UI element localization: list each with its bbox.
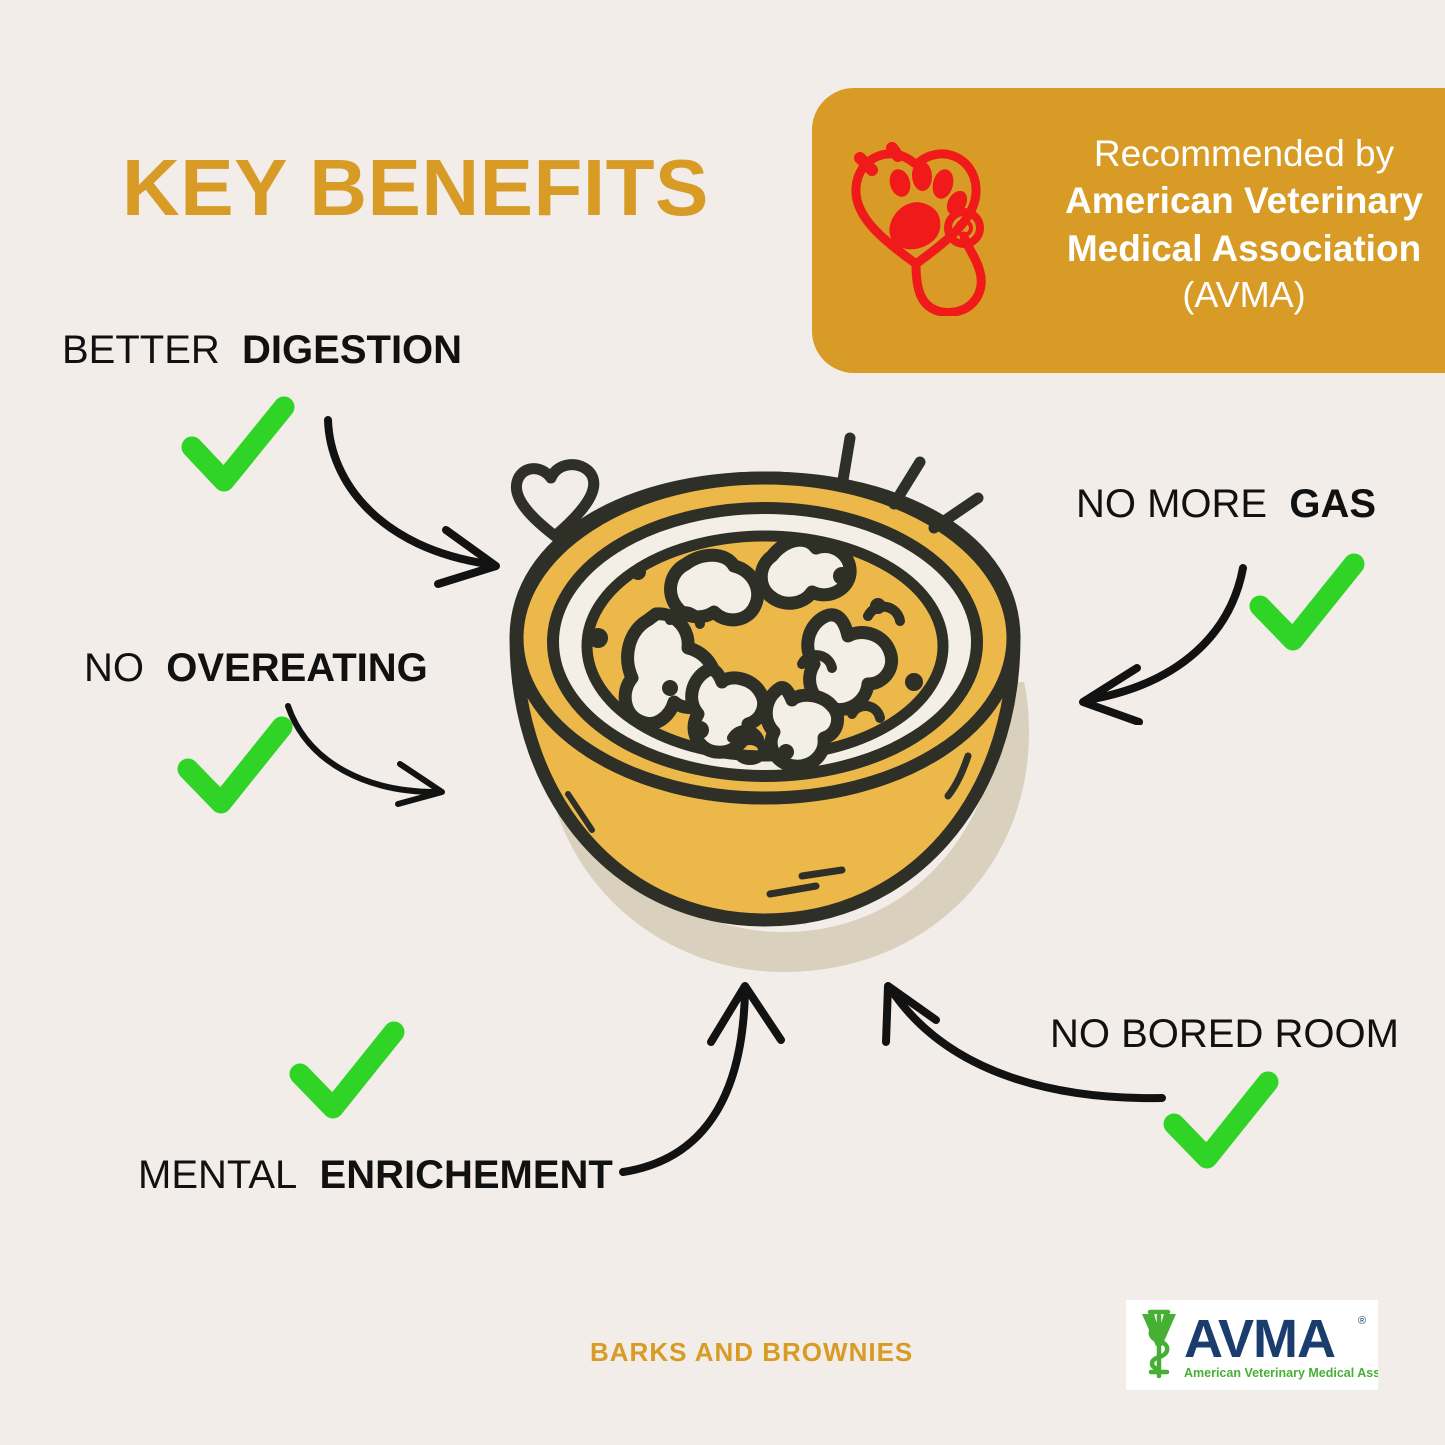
benefit-emphasis-overeating: OVEREATING	[166, 646, 428, 690]
brand-name: BARKS AND BROWNIES	[590, 1337, 913, 1368]
stethoscope-heart-paw-icon	[842, 136, 1032, 316]
infographic-canvas: KEY BENEFITS	[0, 0, 1445, 1445]
curved-arrow-down-left-icon	[1075, 560, 1255, 725]
badge-line-org-2: Medical Association	[1044, 225, 1444, 272]
check-icon	[180, 395, 295, 495]
sparkle-lines-icon	[828, 428, 998, 548]
benefit-label-gas: NO MORE GAS	[1076, 484, 1376, 524]
check-icon	[288, 1020, 406, 1122]
benefit-emphasis-digestion: DIGESTION	[242, 328, 462, 372]
avma-recommendation-badge: Recommended by American Veterinary Medic…	[812, 88, 1445, 373]
avma-trademark: ®	[1358, 1315, 1366, 1327]
avma-tagline: American Veterinary Medical Association	[1184, 1366, 1378, 1380]
benefit-label-enrichement: MENTAL ENRICHEMENT	[138, 1155, 613, 1195]
badge-line-recommended: Recommended by	[1044, 130, 1444, 177]
curved-arrow-up-right-icon	[615, 980, 805, 1180]
benefit-emphasis-enrichement: ENRICHEMENT	[320, 1153, 613, 1197]
avma-logo: AVMA ® American Veterinary Medical Assoc…	[1126, 1300, 1378, 1390]
check-icon	[1162, 1070, 1280, 1172]
benefit-prefix-digestion: BETTER	[62, 328, 231, 372]
benefit-label-digestion: BETTER DIGESTION	[62, 330, 462, 370]
heart-doodle-icon	[505, 452, 605, 544]
badge-line-acronym: (AVMA)	[1044, 272, 1444, 319]
benefit-prefix-overeating: NO	[84, 646, 155, 690]
benefit-label-overeating: NO OVEREATING	[84, 648, 428, 688]
benefit-emphasis-gas: GAS	[1289, 482, 1376, 526]
curved-arrow-down-right-icon	[320, 412, 520, 592]
benefit-prefix-enrichement: MENTAL	[138, 1153, 308, 1197]
check-icon	[1248, 552, 1366, 654]
check-icon	[176, 715, 294, 817]
badge-text-block: Recommended by American Veterinary Medic…	[1044, 130, 1444, 319]
badge-line-org-1: American Veterinary	[1044, 177, 1444, 224]
avma-wordmark: AVMA	[1184, 1309, 1335, 1369]
curved-arrow-up-left-icon	[880, 980, 1170, 1110]
curved-arrow-right-icon	[282, 700, 450, 808]
benefit-prefix-gas: NO MORE	[1076, 482, 1278, 526]
page-title: KEY BENEFITS	[122, 148, 709, 228]
